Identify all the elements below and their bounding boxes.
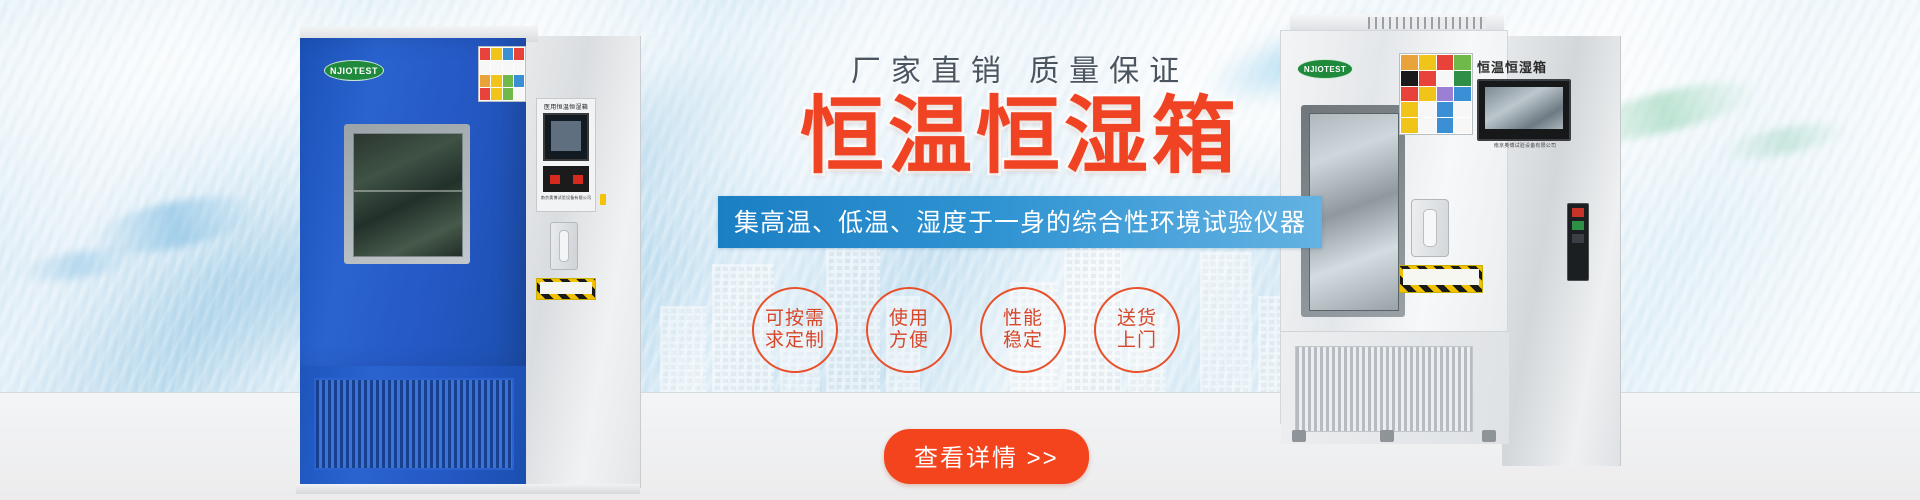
banner-copy-block: 厂家直销 质量保证 恒温恒湿箱 集高温、低温、湿度于一身的综合性环境试验仪器	[700, 46, 1340, 248]
feature-badge-custom[interactable]: 可按需 求定制	[752, 287, 838, 373]
badge-line-1: 可按需	[765, 308, 825, 330]
product-banner: NJIOTEST 医用恒温恒湿箱 南京奥博试验设备有限公司	[0, 0, 1920, 500]
badge-line-2: 求定制	[765, 330, 825, 352]
left-chamber-body: NJIOTEST	[300, 38, 526, 368]
right-chamber-door-handle	[1411, 199, 1449, 257]
left-chamber-door-handle	[550, 222, 578, 270]
badge-line-2: 上门	[1117, 330, 1157, 352]
right-chamber-hazard-stripe	[1399, 265, 1483, 293]
left-chamber-ventilation-grille	[314, 378, 514, 470]
left-chamber-button-row	[543, 166, 589, 192]
left-chamber-warning-label	[478, 46, 526, 102]
right-chamber-side-controls	[1567, 203, 1589, 281]
left-chamber-control-panel: 医用恒温恒湿箱 南京奥博试验设备有限公司	[536, 98, 596, 212]
feature-badge-delivery[interactable]: 送货 上门	[1094, 287, 1180, 373]
badge-line-1: 送货	[1117, 308, 1157, 330]
left-chamber-hazard-stripe	[536, 278, 596, 300]
right-chamber-ventilation-grille	[1295, 346, 1473, 432]
left-chamber-base-unit	[300, 366, 526, 486]
view-details-button[interactable]: 查看详情 >>	[884, 429, 1089, 484]
left-chamber-display-screen	[543, 113, 589, 161]
left-chamber-indicator-light	[600, 194, 606, 205]
badge-line-1: 使用	[889, 308, 929, 330]
banner-tagline: 厂家直销 质量保证	[700, 46, 1340, 90]
feature-badge-stable[interactable]: 性能 稳定	[980, 287, 1066, 373]
badge-line-1: 性能	[1003, 308, 1043, 330]
badge-line-2: 方便	[889, 330, 929, 352]
left-chamber-company-text: 南京奥博试验设备有限公司	[537, 192, 595, 201]
left-chamber-window-glass	[353, 133, 463, 257]
banner-headline: 恒温恒湿箱	[700, 94, 1340, 178]
left-chamber-panel-title: 医用恒温恒湿箱	[537, 99, 595, 113]
right-chamber-display-screen	[1477, 79, 1571, 141]
left-product-image: NJIOTEST 医用恒温恒湿箱 南京奥博试验设备有限公司	[300, 26, 640, 494]
left-chamber-viewing-window	[344, 124, 470, 264]
banner-subtitle: 集高温、低温、湿度于一身的综合性环境试验仪器	[718, 196, 1322, 248]
right-chamber-legs	[1284, 426, 1504, 442]
left-chamber-brand-logo: NJIOTEST	[324, 60, 384, 81]
left-chamber-foot-plinth	[296, 484, 640, 494]
feature-badge-group: 可按需 求定制 使用 方便 性能 稳定 送货 上门	[752, 287, 1292, 373]
right-chamber-panel-title: 恒温恒湿箱	[1477, 57, 1563, 76]
right-chamber-top-vent	[1368, 17, 1486, 29]
banner-subtitle-wrap: 集高温、低温、湿度于一身的综合性环境试验仪器	[700, 178, 1340, 248]
right-chamber-warning-label	[1399, 53, 1473, 135]
feature-badge-easy-use[interactable]: 使用 方便	[866, 287, 952, 373]
right-chamber-company-text: 南京奥博试验设备有限公司	[1477, 143, 1573, 151]
badge-line-2: 稳定	[1003, 330, 1043, 352]
